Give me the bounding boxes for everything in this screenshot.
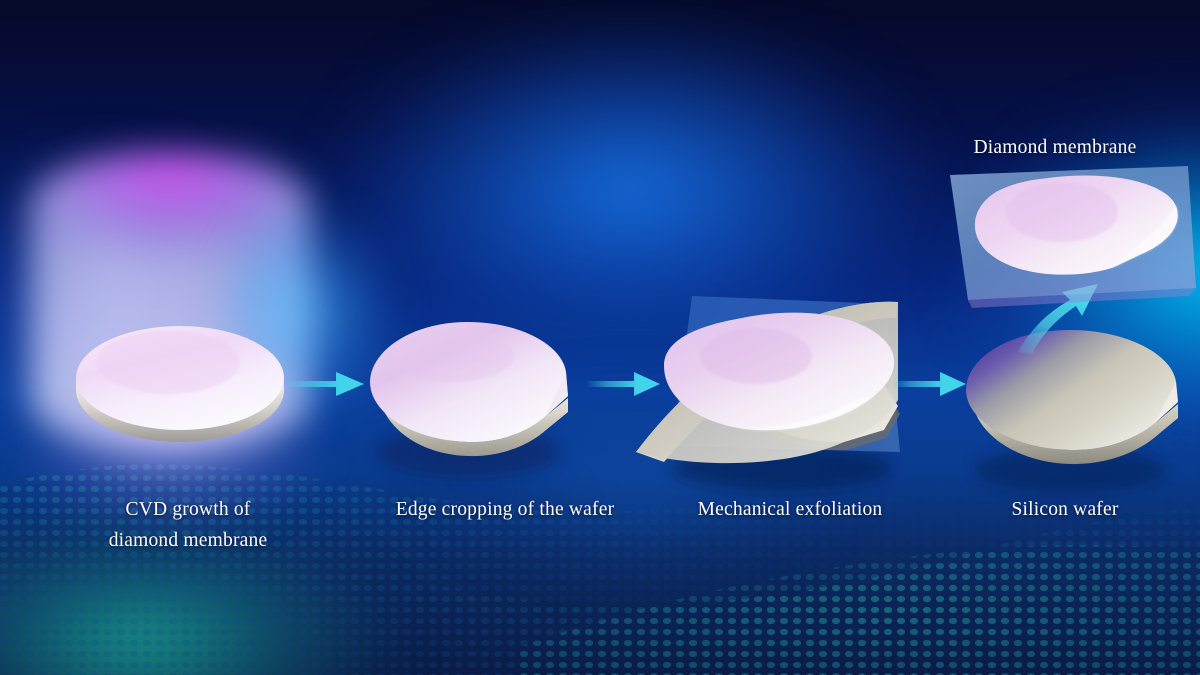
step3-mechanical-exfoliation (636, 296, 900, 490)
released-diamond-membrane (950, 166, 1196, 308)
arrow-cvd-to-crop (284, 372, 364, 396)
arrow-exfoliation-to-silicon (890, 372, 966, 396)
step4-silicon-wafer (966, 330, 1178, 492)
step1-wafer (76, 326, 284, 444)
process-objects (0, 0, 1200, 675)
step2-cropped-wafer (370, 322, 568, 478)
figure-canvas: Diamond membrane CVD growth of diamond m… (0, 0, 1200, 675)
arrow-crop-to-exfoliation (586, 372, 660, 396)
